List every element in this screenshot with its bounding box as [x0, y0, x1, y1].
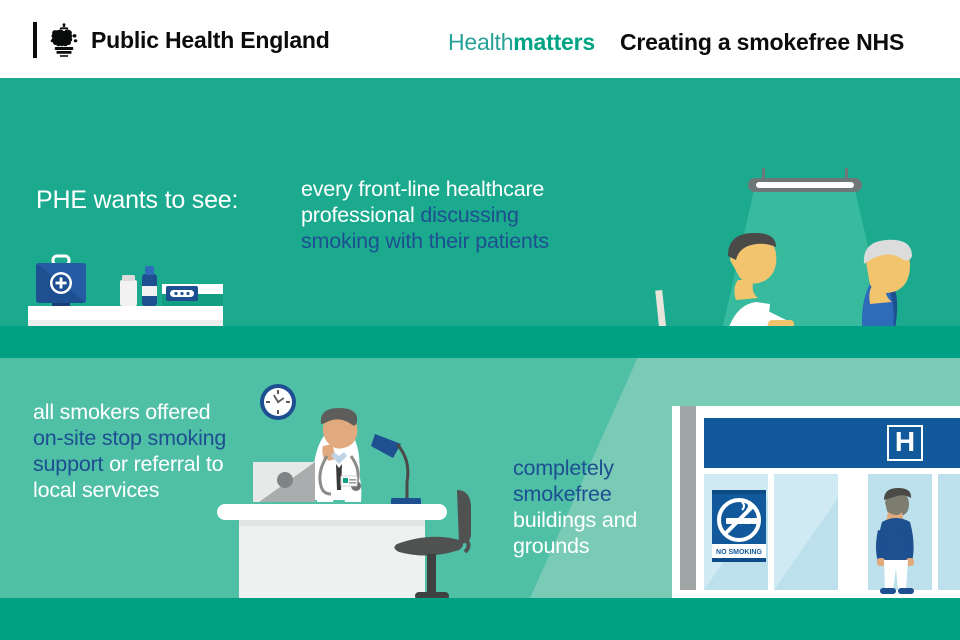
desk-lamp-icon — [371, 434, 421, 506]
brand-matters: matters — [513, 29, 595, 55]
laptop-icon — [253, 462, 315, 502]
phe-logo-text: Public Health England — [91, 27, 330, 54]
smokefree-caption-blue: completely smokefree — [513, 456, 614, 506]
panel-divider — [0, 326, 960, 358]
hospital-sign-letter: H — [895, 426, 915, 457]
infographic-page: Public Health England Healthmatters Crea… — [0, 0, 960, 640]
medical-cabinet-illustration — [28, 248, 223, 326]
logo-divider-rule — [33, 22, 37, 58]
first-aid-kit-icon — [36, 256, 86, 306]
support-caption: all smokers offered on-site stop smoking… — [33, 399, 228, 503]
brand-health: Health — [448, 29, 513, 55]
counter-top — [28, 306, 223, 320]
support-caption-white-1: all smokers offered — [33, 400, 210, 424]
healthmatters-brand: Healthmatters — [448, 29, 595, 56]
page-title: Creating a smokefree NHS — [620, 29, 904, 56]
royal-crest-icon — [47, 22, 81, 58]
entrance-pillar — [680, 406, 696, 590]
floor-band — [0, 598, 960, 640]
doctor-reception-desk-illustration — [215, 378, 505, 598]
phe-logo: Public Health England — [33, 22, 330, 58]
hospital-entrance-illustration: H NO SMOKING — [672, 398, 960, 598]
ceiling-light-icon — [748, 168, 862, 192]
plaster-box-icon — [162, 278, 223, 306]
page-header: Public Health England Healthmatters Crea… — [0, 0, 960, 78]
medicine-bottles-icon — [120, 266, 157, 306]
doctor-patient-consultation-illustration — [650, 168, 960, 326]
wall-clock-icon — [260, 384, 296, 420]
reception-doctor-figure — [312, 408, 361, 502]
no-smoking-label: NO SMOKING — [716, 549, 762, 556]
no-smoking-sign-icon: NO SMOKING — [712, 490, 766, 562]
smokefree-caption: completely smokefree buildings and groun… — [513, 455, 678, 559]
phe-wants-heading: PHE wants to see: — [36, 186, 238, 215]
doctor-chair — [655, 290, 732, 326]
consultation-caption: every front-line healthcare professional… — [301, 176, 601, 254]
smokefree-caption-white: buildings and grounds — [513, 508, 637, 558]
